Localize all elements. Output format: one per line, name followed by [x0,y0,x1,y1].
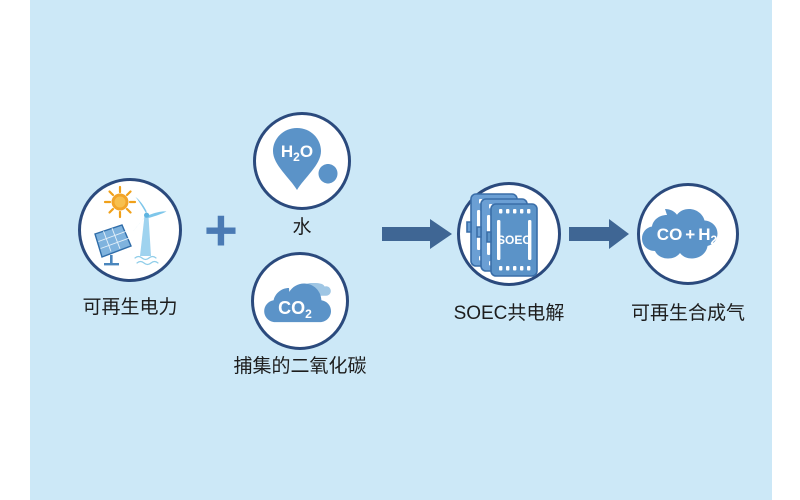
node-caption: SOEC共电解 [429,302,589,326]
sun-icon [105,187,135,217]
node-caption: 可再生合成气 [608,302,768,326]
node-caption: 水 [262,216,342,240]
syngas-cloud-icon: CO+H2 [637,183,739,285]
node-soec[interactable]: SOEC SOEC共电解 [457,182,561,286]
syngas-label: CO+H2 [657,225,718,247]
soec-label: SOEC [497,233,531,247]
node-water[interactable]: H2O 水 [253,112,351,210]
node-syngas[interactable]: CO+H2 可再生合成气 [637,183,739,285]
node-captured-co2[interactable]: CO2 捕集的二氧化碳 [251,252,349,350]
diagram-canvas: 可再生电力 + H2O 水 CO2 捕集的二氧化碳 [0,0,800,500]
node-renewable-power[interactable]: 可再生电力 [78,178,182,282]
plus-sign: + [204,202,238,260]
arrow-inputs-to-soec [382,217,454,251]
wind-turbine-icon [133,197,167,265]
node-caption: 可再生电力 [50,296,210,320]
solar-wind-icon [78,178,182,282]
node-caption: 捕集的二氧化碳 [220,355,380,379]
soec-stack-icon: SOEC [457,182,561,286]
water-droplet-icon: H2O [253,112,351,210]
solar-panel-icon [95,225,131,265]
arrow-soec-to-syngas [569,217,631,251]
co2-cloud-icon: CO2 [251,252,349,350]
